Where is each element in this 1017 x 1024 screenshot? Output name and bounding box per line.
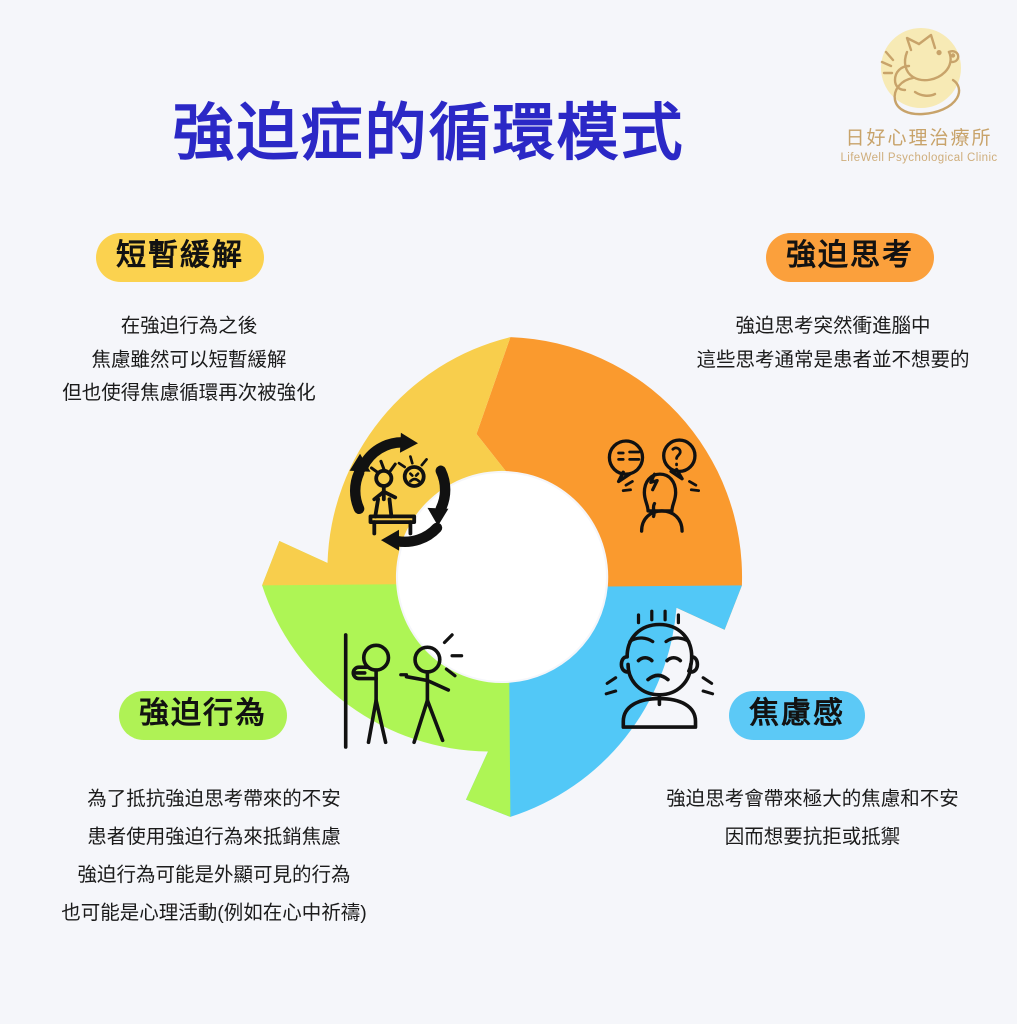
infographic-canvas: 強迫症的循環模式 日好心理治療所 LifeWell Psychological … bbox=[0, 0, 1017, 1024]
description-line: 患者使用強迫行為來抵銷焦慮 bbox=[14, 818, 414, 856]
logo-name-chinese: 日好心理治療所 bbox=[835, 123, 1003, 150]
description-line: 這些思考通常是患者並不想要的 bbox=[655, 344, 1011, 378]
description-line: 焦慮雖然可以短暫緩解 bbox=[14, 344, 364, 378]
label-pill-anxiety[interactable]: 焦慮感 bbox=[729, 691, 865, 740]
description-compulsion: 為了抵抗強迫思考帶來的不安 患者使用強迫行為來抵銷焦慮 強迫行為可能是外顯可見的… bbox=[14, 780, 414, 932]
description-relief: 在強迫行為之後 焦慮雖然可以短暫緩解 但也使得焦慮循環再次被強化 bbox=[14, 310, 364, 411]
label-pill-obsession[interactable]: 強迫思考 bbox=[766, 233, 934, 282]
description-line: 強迫思考突然衝進腦中 bbox=[655, 310, 1011, 344]
logo-name-english: LifeWell Psychological Clinic bbox=[835, 152, 1003, 164]
description-line: 因而想要抗拒或抵禦 bbox=[615, 818, 1010, 856]
description-anxiety: 強迫思考會帶來極大的焦慮和不安 因而想要抗拒或抵禦 bbox=[615, 780, 1010, 856]
shiba-dog-icon bbox=[853, 22, 983, 126]
description-line: 也可能是心理活動(例如在心中祈禱) bbox=[14, 894, 414, 932]
description-line: 強迫思考會帶來極大的焦慮和不安 bbox=[615, 780, 1010, 818]
clinic-logo: 日好心理治療所 LifeWell Psychological Clinic bbox=[835, 22, 1003, 182]
description-line: 為了抵抗強迫思考帶來的不安 bbox=[14, 780, 414, 818]
donut-center-hole bbox=[398, 473, 606, 681]
label-pill-relief[interactable]: 短暫緩解 bbox=[96, 233, 264, 282]
label-pill-compulsion[interactable]: 強迫行為 bbox=[119, 691, 287, 740]
description-line: 強迫行為可能是外顯可見的行為 bbox=[14, 856, 414, 894]
description-line: 在強迫行為之後 bbox=[14, 310, 364, 344]
description-line: 但也使得焦慮循環再次被強化 bbox=[14, 377, 364, 411]
description-obsession: 強迫思考突然衝進腦中 這些思考通常是患者並不想要的 bbox=[655, 310, 1011, 377]
